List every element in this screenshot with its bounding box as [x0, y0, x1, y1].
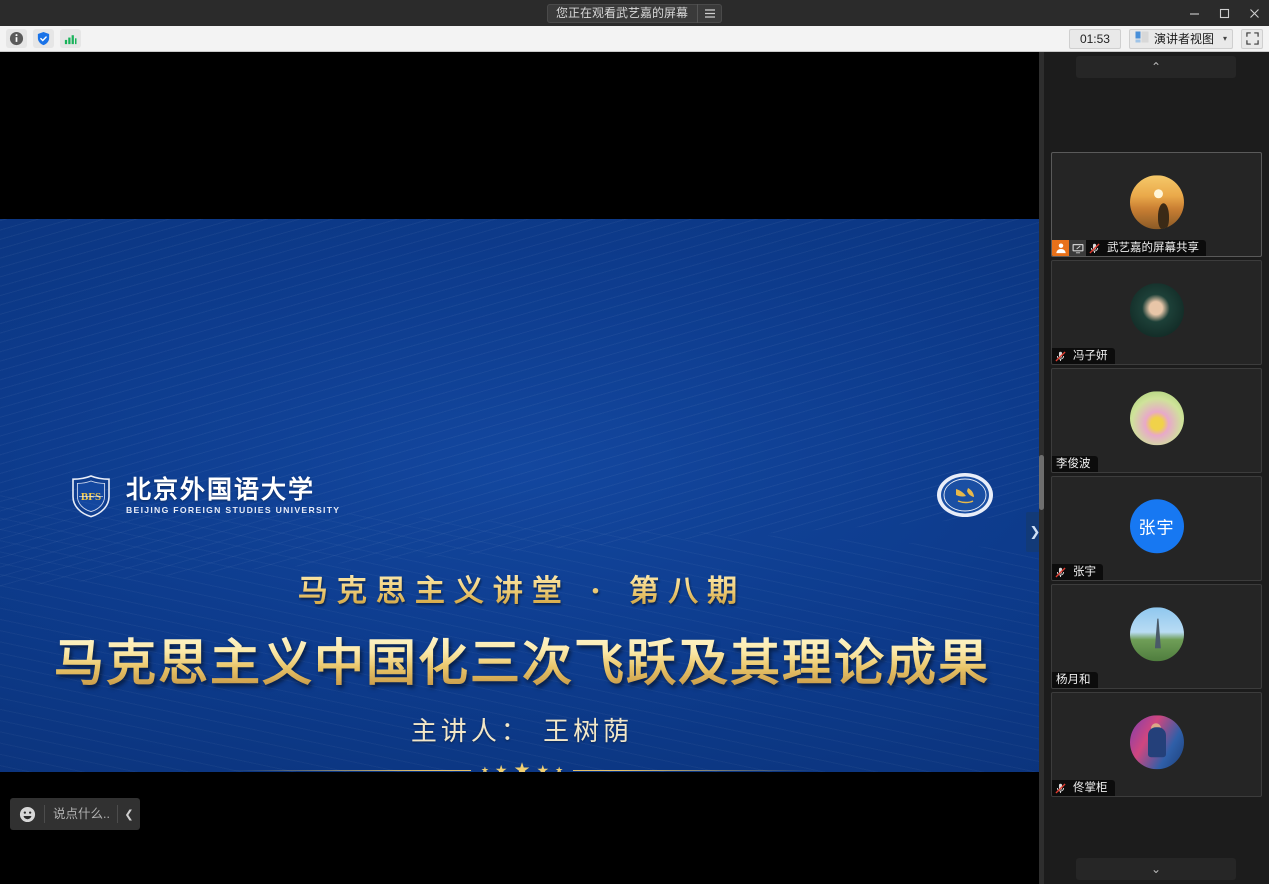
star-divider: ★ ★ ★ ★ ★ — [0, 759, 1044, 772]
participant-name: 武艺嘉的屏幕共享 — [1103, 240, 1206, 256]
divider-line-left — [226, 770, 471, 771]
mic-muted-icon — [1052, 564, 1069, 580]
avatar — [1130, 607, 1184, 661]
chat-collapse-button[interactable]: ❮ — [118, 798, 140, 830]
avatar — [1130, 283, 1184, 337]
participant-badge-bar: 杨月和 — [1052, 672, 1098, 688]
chat-input[interactable] — [45, 798, 117, 830]
avatar — [1130, 175, 1184, 229]
participant-badge-bar: 佟掌柜 — [1052, 780, 1115, 796]
star-icon: ★ — [481, 765, 489, 772]
avatar-image — [1130, 607, 1184, 661]
title-bar: 您正在观看武艺嘉的屏幕 — [0, 0, 1269, 26]
participant-tile[interactable]: 武艺嘉的屏幕共享 — [1051, 152, 1262, 257]
scroll-down-button[interactable]: ⌄ — [1076, 858, 1236, 880]
participant-tile[interactable]: 杨月和 — [1051, 584, 1262, 689]
divider-line-right — [573, 770, 818, 771]
chat-input-bar[interactable]: ❮ — [10, 798, 140, 830]
participant-name: 冯子妍 — [1069, 348, 1115, 364]
mic-muted-icon — [1052, 348, 1069, 364]
meeting-timer: 01:53 — [1069, 29, 1121, 49]
avatar-image — [1130, 391, 1184, 445]
participant-badge-bar: 冯子妍 — [1052, 348, 1115, 364]
avatar — [1130, 391, 1184, 445]
screen-share-icon — [1069, 240, 1086, 256]
divider-stars: ★ ★ ★ ★ ★ — [471, 759, 573, 772]
participant-name: 杨月和 — [1052, 672, 1098, 688]
svg-text:BFS: BFS — [81, 491, 101, 503]
layout-icon — [1135, 31, 1149, 46]
participant-tile[interactable]: 冯子妍 — [1051, 260, 1262, 365]
share-notice-label: 您正在观看武艺嘉的屏幕 — [547, 4, 697, 23]
participant-name: 李俊波 — [1052, 456, 1098, 472]
slide-title: 马克思主义中国化三次飞跃及其理论成果 — [0, 623, 1044, 695]
university-crest-icon — [936, 472, 994, 518]
info-icon[interactable] — [6, 29, 27, 48]
participant-panel: ⌃ 武艺嘉的屏幕共享冯子妍李俊波张宇张宇杨月和佟掌柜 ⌄ — [1044, 52, 1269, 884]
mic-muted-icon — [1052, 780, 1069, 796]
university-logo: BFS 北京外国语大学 BEIJING FOREIGN STUDIES UNIV… — [68, 473, 336, 519]
host-icon — [1052, 240, 1069, 256]
maximize-button[interactable] — [1209, 0, 1239, 26]
star-icon: ★ — [495, 762, 508, 772]
shared-screen-stage[interactable]: BFS 北京外国语大学 BEIJING FOREIGN STUDIES UNIV… — [0, 52, 1044, 884]
avatar — [1130, 715, 1184, 769]
signal-icon[interactable] — [60, 29, 81, 48]
presentation-slide: BFS 北京外国语大学 BEIJING FOREIGN STUDIES UNIV… — [0, 219, 1044, 772]
participant-badge-bar: 张宇 — [1052, 564, 1103, 580]
participant-tile[interactable]: 张宇张宇 — [1051, 476, 1262, 581]
participant-name: 佟掌柜 — [1069, 780, 1115, 796]
participant-tile[interactable]: 李俊波 — [1051, 368, 1262, 473]
participant-badge-bar: 李俊波 — [1052, 456, 1098, 472]
screen-share-notice: 您正在观看武艺嘉的屏幕 — [547, 4, 722, 23]
emoji-icon[interactable] — [10, 798, 44, 830]
avatar-image — [1130, 715, 1184, 769]
view-mode-select[interactable]: 演讲者视图 ▾ — [1129, 29, 1233, 49]
star-icon: ★ — [555, 765, 563, 772]
avatar-image — [1130, 175, 1184, 229]
shield-icon[interactable] — [33, 29, 54, 48]
participant-name: 张宇 — [1069, 564, 1103, 580]
avatar-image — [1130, 283, 1184, 337]
university-name-block: 北京外国语大学 BEIJING FOREIGN STUDIES UNIVERSI… — [126, 477, 336, 514]
participant-tile-list: 武艺嘉的屏幕共享冯子妍李俊波张宇张宇杨月和佟掌柜 — [1044, 152, 1269, 800]
slide-kicker: 马克思主义讲堂 · 第八期 — [0, 566, 1044, 610]
view-mode-label: 演讲者视图 — [1154, 30, 1214, 47]
star-icon: ★ — [537, 762, 550, 772]
university-name-cn: 北京外国语大学 — [126, 477, 336, 503]
participant-badge-bar: 武艺嘉的屏幕共享 — [1052, 240, 1206, 256]
window-controls — [1179, 0, 1269, 26]
hamburger-icon[interactable] — [698, 4, 722, 23]
scroll-up-button[interactable]: ⌃ — [1076, 56, 1236, 78]
meeting-window: 您正在观看武艺嘉的屏幕 — [0, 0, 1269, 884]
chevron-down-icon: ▾ — [1223, 34, 1227, 43]
avatar-initials: 张宇 — [1130, 499, 1184, 553]
toolbar-right-group: 01:53 演讲者视图 ▾ — [1069, 29, 1263, 49]
participant-tile[interactable]: 佟掌柜 — [1051, 692, 1262, 797]
slide-speaker: 主讲人： 王树荫 — [0, 711, 1044, 748]
meeting-toolbar: 01:53 演讲者视图 ▾ — [0, 26, 1269, 52]
university-name-en: BEIJING FOREIGN STUDIES UNIVERSITY — [126, 505, 340, 515]
close-button[interactable] — [1239, 0, 1269, 26]
fullscreen-button[interactable] — [1241, 29, 1263, 49]
star-icon: ★ — [513, 759, 530, 772]
minimize-button[interactable] — [1179, 0, 1209, 26]
bfsu-shield-icon: BFS — [68, 473, 114, 519]
mic-muted-icon — [1086, 240, 1103, 256]
